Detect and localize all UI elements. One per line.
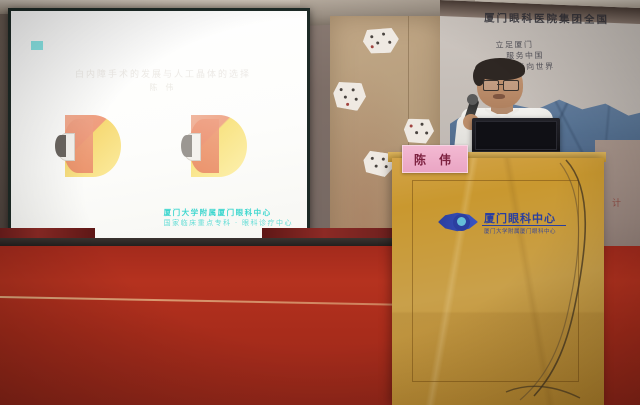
eye-cross-section-right [181,115,247,177]
podium-logo-name: 厦门眼科中心 [484,210,556,226]
podium-logo-rule [482,225,566,226]
slide-footer-line-2: 国家临床重点专科 · 眼科诊疗中心 [164,218,293,228]
eye-lens [181,135,192,157]
projection-screen-frame: 白内障手术的发展与人工晶体的选择 陈 伟 厦门大学附属厦门眼科中心 国家临床重点… [8,8,310,253]
slide-title-line-1: 白内障手术的发展与人工晶体的选择 [75,69,251,79]
speaker-name-text: 陈 伟 [414,151,456,168]
podium: 厦门眼科中心 厦门大学附属厦门眼科中心 [392,158,604,405]
speaker-glasses-left-lens [483,80,499,91]
eye-logo-highlight [457,217,466,226]
laptop-lid [475,121,557,150]
wall-character-text: 计 [612,196,621,209]
slide-footer-line-1: 厦门大学附属厦门眼科中心 [164,208,293,218]
speaker-mouth [493,94,505,99]
speaker-name-card: 陈 伟 [402,145,468,173]
microphone-head-icon [467,94,478,105]
projection-screen: 白内障手术的发展与人工晶体的选择 陈 伟 厦门大学附属厦门眼科中心 国家临床重点… [11,11,307,250]
podium-logo: 厦门眼科中心 厦门大学附属厦门眼科中心 [438,210,568,236]
eye-lens [55,135,66,157]
slide-footer: 厦门大学附属厦门眼科中心 国家临床重点专科 · 眼科诊疗中心 [164,208,293,228]
speaker-glasses-bridge [497,84,503,85]
slide-title: 白内障手术的发展与人工晶体的选择 陈 伟 [53,67,273,95]
photo-scene: 厦门眼科医院集团全国 立足厦门 服务中国 走向世界 计 白内障手术的发展与人工晶… [0,0,640,405]
eye-cross-section-left [55,115,121,177]
eye-logo-icon [438,212,478,232]
slide-title-line-2: 陈 伟 [53,81,273,95]
slide-bullet-marker-icon [31,41,43,50]
banner-title: 厦门眼科医院集团全国 [484,10,640,28]
podium-logo-subtitle: 厦门大学附属厦门眼科中心 [484,227,556,235]
speaker-glasses-right-lens [503,80,519,91]
